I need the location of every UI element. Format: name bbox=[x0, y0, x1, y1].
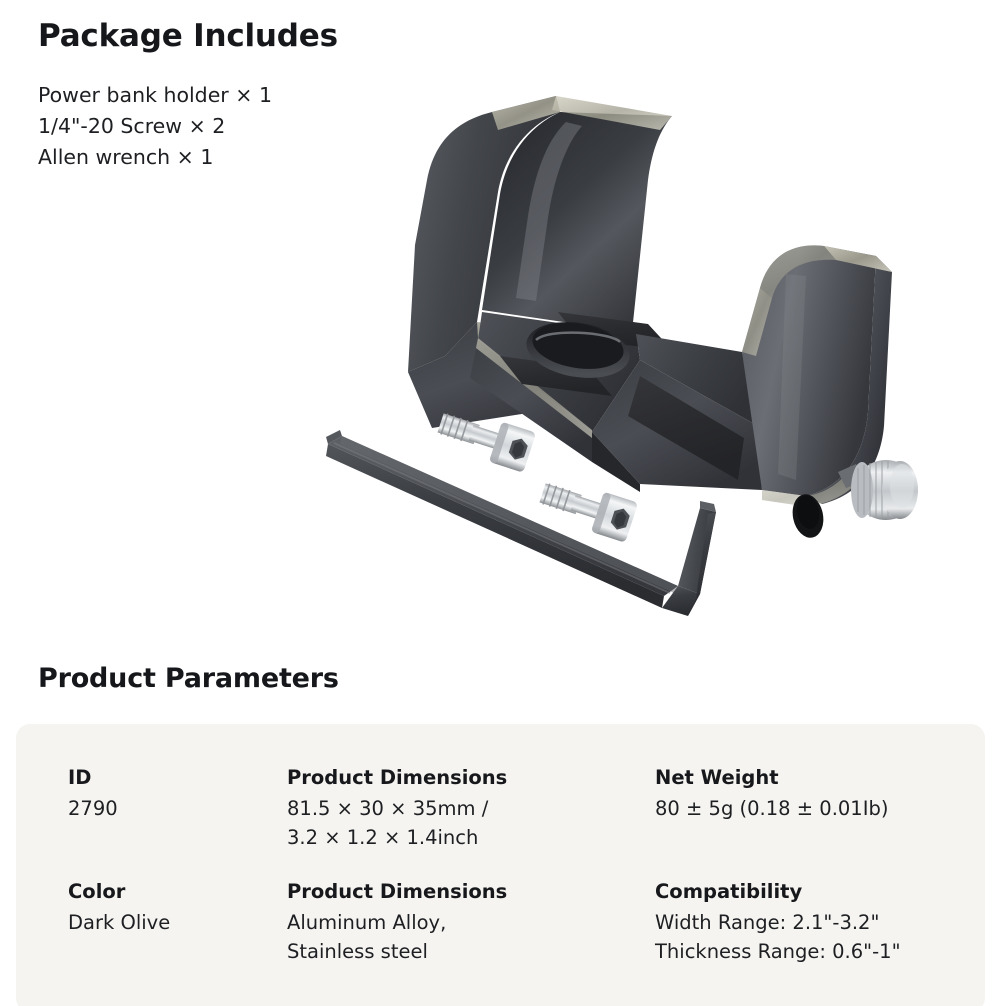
parameter-label: Product Dimensions bbox=[287, 764, 655, 791]
parameter-label: Color bbox=[68, 878, 287, 905]
product-parameters-grid: ID 2790 Product Dimensions 81.5 × 30 × 3… bbox=[68, 764, 968, 992]
parameter-label: Product Dimensions bbox=[287, 878, 655, 905]
product-detail-page: Package Includes Power bank holder × 1 1… bbox=[0, 0, 1001, 1006]
product-hero-image bbox=[0, 60, 1001, 640]
parameter-value: 80 ± 5g (0.18 ± 0.01Ib) bbox=[655, 794, 968, 823]
parameter-cell-id: ID 2790 bbox=[68, 764, 287, 852]
parameter-cell-compatibility: Compatibility Width Range: 2.1"-3.2" Thi… bbox=[655, 878, 968, 966]
package-includes-title: Package Includes bbox=[38, 18, 338, 54]
parameter-cell-net-weight: Net Weight 80 ± 5g (0.18 ± 0.01Ib) bbox=[655, 764, 968, 852]
parameter-row: Color Dark Olive Product Dimensions Alum… bbox=[68, 878, 968, 966]
parameter-value: 3.2 × 1.2 × 1.4inch bbox=[287, 823, 655, 852]
parameter-cell-material: Product Dimensions Aluminum Alloy, Stain… bbox=[287, 878, 655, 966]
parameter-value: Dark Olive bbox=[68, 908, 287, 937]
parameter-cell-color: Color Dark Olive bbox=[68, 878, 287, 966]
parameter-label: Net Weight bbox=[655, 764, 968, 791]
parameter-value: 2790 bbox=[68, 794, 287, 823]
product-parameters-title: Product Parameters bbox=[38, 663, 339, 694]
parameter-value: Stainless steel bbox=[287, 937, 655, 966]
parameter-cell-dimensions: Product Dimensions 81.5 × 30 × 35mm / 3.… bbox=[287, 764, 655, 852]
parameter-value: Width Range: 2.1"-3.2" bbox=[655, 908, 968, 937]
parameter-value: Aluminum Alloy, bbox=[287, 908, 655, 937]
parameter-row: ID 2790 Product Dimensions 81.5 × 30 × 3… bbox=[68, 764, 968, 852]
parameter-label: Compatibility bbox=[655, 878, 968, 905]
parameter-label: ID bbox=[68, 764, 287, 791]
parameter-value: 81.5 × 30 × 35mm / bbox=[287, 794, 655, 823]
parameter-value: Thickness Range: 0.6"-1" bbox=[655, 937, 968, 966]
